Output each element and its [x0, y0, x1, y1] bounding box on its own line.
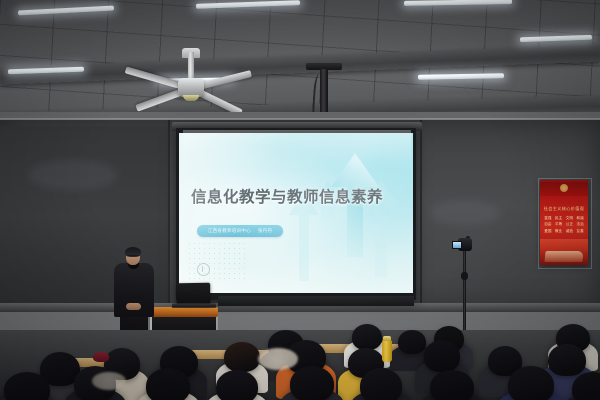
slide-subtitle-right: 张丹丹	[258, 228, 272, 234]
blackboard-divider	[420, 120, 422, 310]
front-desk	[218, 296, 414, 306]
student-head	[430, 370, 474, 400]
tripod-joint	[461, 272, 468, 280]
hair-bow	[93, 352, 109, 362]
presenter-glasses	[127, 255, 139, 259]
student-head	[216, 370, 258, 400]
chalk-smudge	[430, 200, 500, 226]
classroom-photo: 信息化教学与教师信息素养 江西省教师培训中心 张丹丹 社会主义核心价值观 富强民…	[0, 0, 600, 400]
student-head	[508, 366, 554, 400]
student-head	[224, 342, 260, 372]
camera-screen	[452, 241, 462, 249]
presenter-hands	[126, 303, 141, 310]
thermos-bottle	[382, 340, 392, 362]
tripod-pole	[463, 248, 466, 340]
fur-collar	[258, 348, 298, 370]
projected-slide: 信息化教学与教师信息素养 江西省教师培训中心 张丹丹	[179, 133, 413, 293]
student-head	[360, 368, 402, 400]
student-head	[398, 330, 426, 354]
student-head	[548, 344, 586, 376]
slide-logo-mark	[197, 263, 210, 276]
student-head	[290, 366, 334, 400]
student-head	[146, 368, 190, 400]
slide-subtitle-pill: 江西省教师培训中心 张丹丹	[197, 225, 283, 237]
fur-collar	[92, 372, 126, 390]
lectern-top	[150, 307, 218, 317]
chalk-smudge	[28, 160, 118, 190]
blackboard-divider	[168, 120, 170, 310]
student-head	[424, 340, 460, 372]
student-head	[4, 372, 50, 400]
slide-dot-pattern	[187, 241, 247, 283]
fan-rod	[188, 52, 194, 80]
laptop-screen	[177, 283, 210, 306]
arrow-graphic	[355, 163, 407, 279]
laptop-keyboard	[172, 303, 216, 307]
thermos-cap	[383, 336, 391, 341]
student-head	[352, 324, 382, 350]
poster-frame	[538, 178, 592, 269]
slide-title: 信息化教学与教师信息素养	[191, 185, 383, 207]
slide-subtitle-left: 江西省教师培训中心	[208, 228, 251, 234]
